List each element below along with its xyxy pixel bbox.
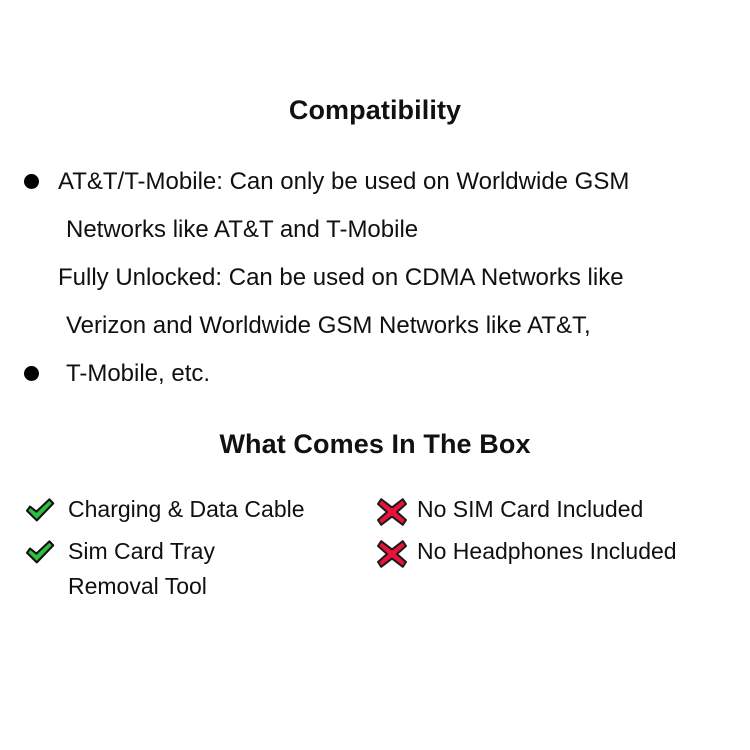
- red-cross-icon: [376, 538, 406, 568]
- list-item: No SIM Card Included: [372, 492, 742, 534]
- list-item-label-continued: Removal Tool: [24, 568, 364, 604]
- compatibility-heading: Compatibility: [0, 94, 750, 126]
- included-items-column: Charging & Data Cable Sim Card Tray Remo…: [24, 492, 364, 610]
- bullet-line: Verizon and Worldwide GSM Networks like …: [22, 302, 732, 350]
- list-item: Sim Card Tray Removal Tool: [24, 534, 364, 610]
- box-contents-heading: What Comes In The Box: [0, 428, 750, 460]
- list-item: Fully Unlocked: Can be used on CDMA Netw…: [22, 254, 732, 398]
- list-item: Charging & Data Cable: [24, 492, 364, 534]
- list-item-label: Sim Card Tray: [24, 534, 364, 568]
- green-check-icon: [24, 495, 56, 527]
- list-item: No Headphones Included: [372, 534, 742, 576]
- green-check-icon: [24, 537, 56, 569]
- bullet-line: Fully Unlocked: Can be used on CDMA Netw…: [22, 254, 732, 302]
- bullet-line: Networks like AT&T and T-Mobile: [22, 206, 732, 254]
- list-item-label: No Headphones Included: [372, 534, 742, 568]
- excluded-items-column: No SIM Card Included No Headphones Inclu…: [372, 492, 742, 576]
- box-contents-grid: Charging & Data Cable Sim Card Tray Remo…: [0, 492, 750, 622]
- bullet-line: T-Mobile, etc.: [22, 350, 732, 398]
- product-info-page: Compatibility AT&T/T-Mobile: Can only be…: [0, 0, 750, 750]
- bullet-dot-icon: [24, 174, 39, 189]
- compatibility-list: AT&T/T-Mobile: Can only be used on World…: [22, 158, 732, 398]
- list-item: AT&T/T-Mobile: Can only be used on World…: [22, 158, 732, 254]
- list-item-label: No SIM Card Included: [372, 492, 742, 526]
- bullet-dot-icon: [24, 366, 39, 381]
- list-item-label: Charging & Data Cable: [24, 492, 364, 526]
- bullet-line: AT&T/T-Mobile: Can only be used on World…: [22, 158, 732, 206]
- red-cross-icon: [376, 496, 406, 526]
